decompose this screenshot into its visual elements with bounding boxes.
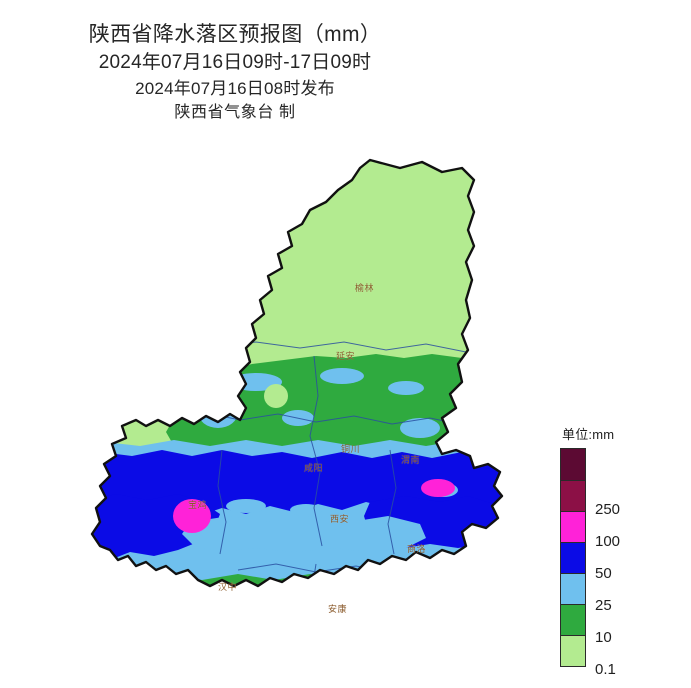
forecast-issued-time: 2024年07月16日08时发布 — [0, 78, 470, 103]
legend-swatch-50 — [561, 542, 585, 573]
issuing-agency: 陕西省气象台 制 — [0, 103, 470, 121]
fill-band-0.1-patch — [264, 384, 288, 408]
legend-swatch-100 — [561, 511, 585, 542]
legend-body: 250 100 50 25 10 0.1 — [560, 448, 685, 667]
fill-band-25-xian-basin — [182, 516, 426, 552]
forecast-valid-period: 2024年07月16日09时-17日09时 — [0, 51, 470, 78]
legend-tick-50: 50 — [595, 566, 612, 581]
legend-unit-label: 单位:mm — [562, 424, 685, 443]
legend-color-bar — [560, 448, 586, 667]
legend-tick-0.1: 0.1 — [595, 662, 616, 677]
legend-tick-100: 100 — [595, 534, 620, 549]
legend-swatch-0.1 — [561, 635, 585, 666]
fill-band-25-patch — [388, 381, 424, 395]
legend-swatch-10 — [561, 604, 585, 635]
legend-swatch-top — [561, 449, 585, 480]
fill-band-25-patch — [290, 504, 322, 516]
legend-tick-10: 10 — [595, 630, 612, 645]
fill-band-100-baoji — [173, 499, 211, 533]
legend-tick-labels: 250 100 50 25 10 0.1 — [595, 448, 685, 667]
legend: 单位:mm 250 100 50 25 10 0.1 — [560, 424, 685, 667]
fill-band-25-patch — [320, 368, 364, 384]
precipitation-map: 榆林 延安 铜川 咸阳 渭南 宝鸡 西安 商洛 汉中 安康 — [70, 150, 540, 680]
legend-tick-25: 25 — [595, 598, 612, 613]
page-title: 陕西省降水落区预报图（mm） — [0, 22, 470, 51]
legend-swatch-250 — [561, 480, 585, 511]
fill-band-25-patch — [400, 418, 440, 438]
legend-tick-250: 250 — [595, 502, 620, 517]
fill-band-100-weinan — [421, 479, 455, 497]
fill-band-25-patch — [226, 499, 266, 513]
legend-swatch-25 — [561, 573, 585, 604]
figure-title-block: 陕西省降水落区预报图（mm） 2024年07月16日09时-17日09时 202… — [0, 22, 470, 121]
shaanxi-province-map-svg — [70, 150, 540, 680]
